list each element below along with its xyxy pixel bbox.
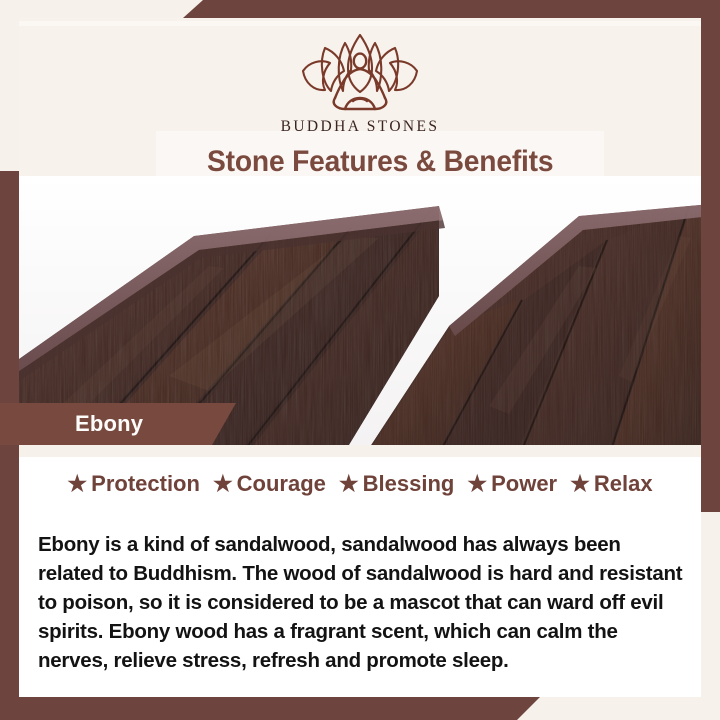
benefit-label: Relax <box>594 471 653 497</box>
benefit-item: ★ Power <box>467 471 557 497</box>
brand-logo: BUDDHA STONES <box>19 30 701 136</box>
benefit-item: ★ Courage <box>213 471 326 497</box>
decor-band-left <box>0 171 19 720</box>
product-name-ribbon: Ebony <box>0 403 236 445</box>
benefit-label: Protection <box>91 471 200 497</box>
star-icon: ★ <box>213 473 233 495</box>
benefit-label: Courage <box>237 471 326 497</box>
star-icon: ★ <box>570 473 590 495</box>
page-title: Stone Features & Benefits <box>207 145 553 179</box>
decor-band-top-right <box>183 0 720 18</box>
lotus-meditation-icon <box>285 30 435 117</box>
description-text: Ebony is a kind of sandalwood, sandalwoo… <box>38 530 687 675</box>
decor-band-right <box>701 0 720 512</box>
benefit-label: Blessing <box>363 471 455 497</box>
star-icon: ★ <box>67 473 87 495</box>
benefit-label: Power <box>491 471 557 497</box>
content-card: ★ Protection ★ Courage ★ Blessing ★ Powe… <box>19 445 701 697</box>
decor-bottom-right-fill <box>518 697 720 720</box>
header: BUDDHA STONES Stone Features & Benefits <box>19 18 701 176</box>
header-sheen <box>19 21 701 26</box>
benefit-item: ★ Protection <box>67 471 200 497</box>
product-name-label: Ebony <box>75 411 143 437</box>
star-icon: ★ <box>467 473 487 495</box>
benefit-item: ★ Blessing <box>339 471 454 497</box>
infographic-page: BUDDHA STONES Stone Features & Benefits <box>0 0 720 720</box>
decor-band-bottom <box>0 697 540 720</box>
card-top-strip <box>19 445 701 457</box>
benefits-list: ★ Protection ★ Courage ★ Blessing ★ Powe… <box>19 471 701 497</box>
benefit-item: ★ Relax <box>570 471 652 497</box>
star-icon: ★ <box>339 473 359 495</box>
